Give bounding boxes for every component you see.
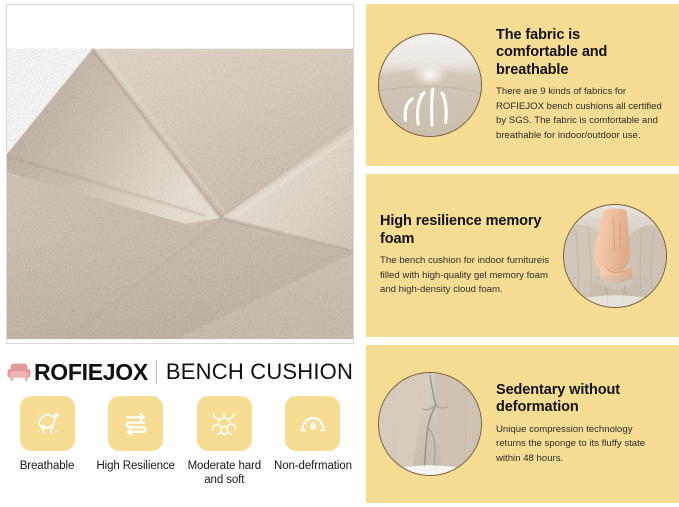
feature-tile bbox=[108, 396, 163, 451]
fist-pressing-foam-illustration bbox=[564, 205, 666, 307]
panel-image-memory-foam bbox=[563, 204, 667, 308]
product-photo bbox=[6, 4, 354, 344]
feature-item-breathable: Breathable bbox=[6, 396, 88, 496]
feature-tile bbox=[197, 396, 252, 451]
feature-strip: Breathable High Resilience bbox=[6, 396, 354, 496]
brand-bar: ROFIEJOX BENCH CUSHION bbox=[6, 355, 354, 389]
panel-image-fabric-comfort bbox=[378, 33, 482, 137]
feature-item-resilience: High Resilience bbox=[95, 396, 177, 496]
panel-text-block: High resilience memory foam The bench cu… bbox=[378, 213, 563, 298]
feature-label: Non-defrmation bbox=[274, 460, 352, 474]
feature-panel-fabric-comfort: The fabric is comfortable and breathable… bbox=[366, 4, 679, 166]
panel-body: There are 9 kinds of fabrics for ROFIEJO… bbox=[496, 85, 665, 143]
feature-panel-memory-foam: High resilience memory foam The bench cu… bbox=[366, 174, 679, 337]
armchair-icon bbox=[6, 361, 32, 383]
panel-text-block: Sedentary without deformation Unique com… bbox=[482, 382, 667, 467]
panel-image-no-deformation bbox=[378, 372, 482, 476]
panel-body: Unique compression technology returns th… bbox=[496, 423, 665, 467]
brand-name: ROFIEJOX bbox=[34, 361, 148, 384]
feature-item-nondeformation: Non-defrmation bbox=[272, 396, 354, 496]
feature-label: High Resilience bbox=[96, 460, 174, 474]
airflow-fabric-illustration bbox=[379, 34, 481, 136]
cushion-recovery-illustration bbox=[379, 373, 481, 475]
non-deformation-gauge-icon bbox=[295, 406, 331, 442]
feature-panel-no-deformation: Sedentary without deformation Unique com… bbox=[366, 345, 679, 503]
panel-title: Sedentary without deformation bbox=[496, 382, 665, 417]
fabric-illustration bbox=[7, 5, 353, 343]
feature-label: Breathable bbox=[20, 460, 75, 474]
product-type-label: BENCH CUSHION bbox=[166, 361, 353, 383]
resilience-arrows-icon bbox=[118, 406, 154, 442]
infographic-page: ROFIEJOX BENCH CUSHION bbox=[0, 0, 679, 507]
moderate-hard-soft-web-icon bbox=[206, 406, 242, 442]
panel-title: The fabric is comfortable and breathable bbox=[496, 27, 665, 79]
feature-tile bbox=[20, 396, 75, 451]
panel-title: High resilience memory foam bbox=[380, 213, 551, 248]
feature-tile bbox=[285, 396, 340, 451]
left-column: ROFIEJOX BENCH CUSHION bbox=[0, 0, 360, 507]
feature-item-moderate: Moderate hard and soft bbox=[183, 396, 265, 496]
right-column: The fabric is comfortable and breathable… bbox=[366, 0, 679, 507]
breathable-air-circulation-icon bbox=[29, 406, 65, 442]
brand-divider bbox=[156, 360, 157, 384]
panel-body: The bench cushion for indoor furnitureis… bbox=[380, 254, 551, 298]
panel-text-block: The fabric is comfortable and breathable… bbox=[482, 27, 667, 143]
fabric-swatch-image bbox=[7, 5, 353, 343]
feature-label: Moderate hard and soft bbox=[183, 460, 265, 487]
